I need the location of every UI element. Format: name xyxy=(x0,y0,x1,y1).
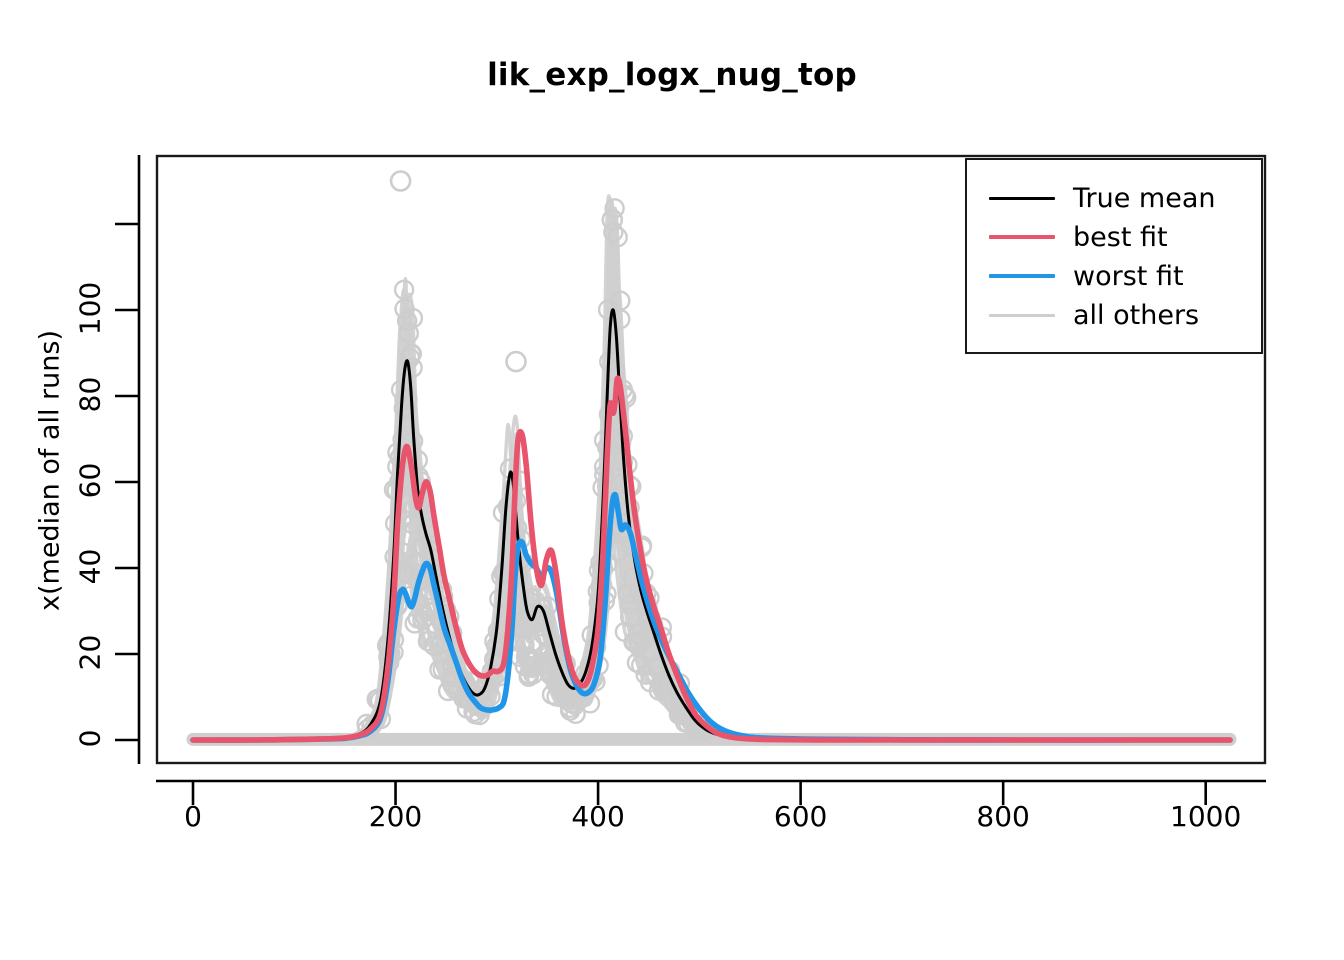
legend-label-0: True mean xyxy=(1073,185,1216,212)
x-tick-label-2: 400 xyxy=(571,800,624,833)
legend-swatch-0 xyxy=(989,197,1055,200)
y-tick-label-1: 20 xyxy=(74,623,107,683)
y-tick-label-0: 0 xyxy=(74,709,107,769)
legend-label-1: best fit xyxy=(1073,224,1168,251)
legend-label-2: worst fit xyxy=(1073,263,1184,290)
y-tick-label-5: 100 xyxy=(74,279,107,339)
main-series-group xyxy=(193,310,1230,740)
legend[interactable]: True mean best fit worst fit all others xyxy=(965,158,1263,354)
legend-item-2[interactable]: worst fit xyxy=(967,256,1261,296)
x-tick-label-3: 600 xyxy=(774,800,827,833)
chart-figure: lik_exp_logx_nug_top x(median of all run… xyxy=(0,0,1344,960)
legend-swatch-3 xyxy=(989,314,1055,317)
legend-item-0[interactable]: True mean xyxy=(967,178,1261,218)
legend-label-3: all others xyxy=(1073,302,1199,329)
y-tick-label-3: 60 xyxy=(74,451,107,511)
y-tick-label-4: 80 xyxy=(74,365,107,425)
legend-swatch-2 xyxy=(989,274,1055,278)
x-tick-label-1: 200 xyxy=(369,800,422,833)
x-tick-label-5: 1000 xyxy=(1170,800,1241,833)
y-tick-label-2: 40 xyxy=(74,537,107,597)
legend-item-3[interactable]: all others xyxy=(967,295,1261,335)
x-tick-label-0: 0 xyxy=(184,800,202,833)
legend-item-1[interactable]: best fit xyxy=(967,217,1261,257)
legend-swatch-1 xyxy=(989,235,1055,239)
x-tick-label-4: 800 xyxy=(976,800,1029,833)
